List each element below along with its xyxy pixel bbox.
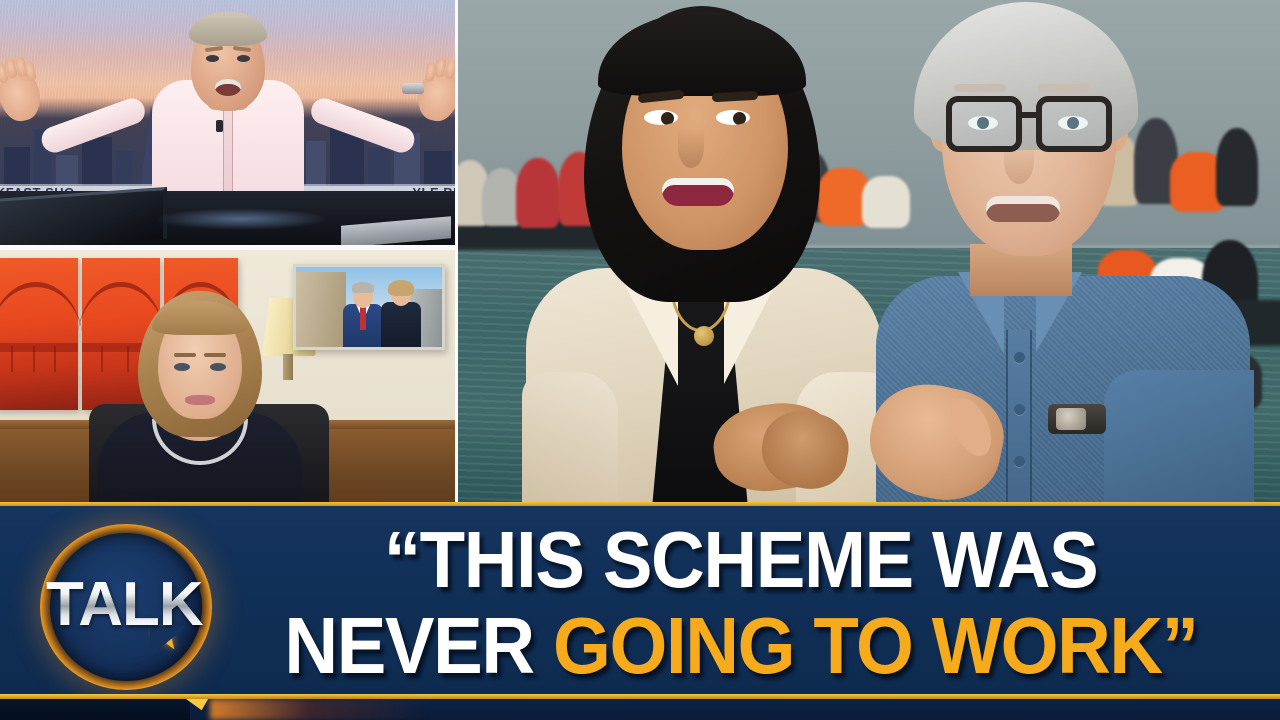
- desk-light-glow: [155, 208, 328, 230]
- lapel-microphone-icon: [216, 120, 223, 132]
- guest-figure: [85, 291, 315, 506]
- headline-line-2: NEVER GOING TO WORK”: [284, 603, 1197, 689]
- glasses-bridge: [1020, 112, 1042, 118]
- photo-woman: [378, 283, 425, 347]
- man-figure: [850, 0, 1280, 506]
- presenter-wristwatch: [402, 83, 424, 94]
- main-story-panel: [458, 0, 1280, 506]
- bridge-artwork-panel-1: [0, 258, 78, 410]
- woman-mouth: [662, 178, 734, 206]
- headline-line-2-white: NEVER: [284, 601, 553, 690]
- image-collage-area: AKFAST SHO YLE BR: [0, 0, 1280, 506]
- gold-pendant: [694, 326, 714, 346]
- blazer-sleeve-left: [522, 372, 618, 506]
- footer-dark-block: [0, 699, 190, 720]
- panel-divider-horizontal: [0, 245, 455, 250]
- talk-logo[interactable]: TALK: [34, 520, 224, 695]
- talk-wordmark: TALK: [38, 574, 218, 636]
- glasses-lens-right: [1036, 96, 1112, 152]
- shirt-sleeve-right: [1104, 370, 1254, 506]
- remote-guest-panel: [0, 250, 455, 506]
- presenter-hair: [189, 12, 267, 46]
- woman-figure: [466, 0, 886, 506]
- headline-line-2-gold: GOING TO WORK”: [553, 601, 1198, 690]
- footer-tail-glow: [210, 699, 430, 720]
- headline-text-block: “THIS SCHEME WAS NEVER GOING TO WORK”: [236, 512, 1246, 694]
- headline-line-1: “THIS SCHEME WAS: [384, 517, 1097, 603]
- panel-divider-vertical: [455, 0, 458, 506]
- woman-hair-fringe: [598, 12, 806, 96]
- framed-photograph: [293, 264, 445, 350]
- banner-top-gold-rule: [0, 502, 1280, 506]
- man-mouth: [986, 196, 1060, 222]
- thumbnail-canvas: AKFAST SHO YLE BR: [0, 0, 1280, 720]
- watch-face: [1056, 408, 1086, 430]
- studio-presenter-panel: AKFAST SHO YLE BR: [0, 0, 455, 245]
- glasses-lens-left: [946, 96, 1022, 152]
